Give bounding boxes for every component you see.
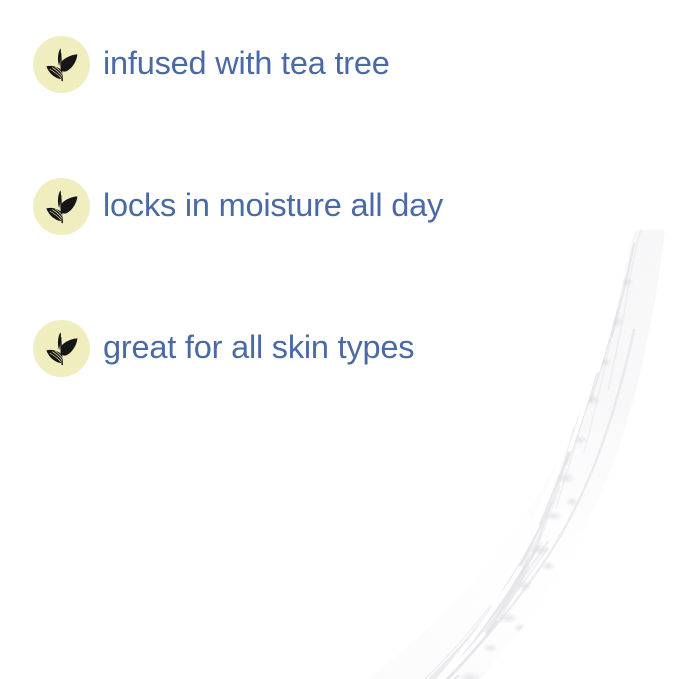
cream-swatch-swoosh [0, 230, 679, 679]
tea-leaf-icon [33, 320, 90, 377]
feature-label: locks in moisture all day [103, 189, 443, 224]
feature-item: locks in moisture all day [33, 178, 443, 235]
feature-item: great for all skin types [33, 320, 414, 377]
tea-leaf-icon [33, 178, 90, 235]
feature-label: infused with tea tree [103, 47, 390, 82]
tea-leaf-icon [33, 36, 90, 93]
feature-item: infused with tea tree [33, 36, 390, 93]
feature-label: great for all skin types [103, 331, 414, 366]
product-feature-graphic: infused with tea tree locks in moisture … [0, 0, 679, 679]
